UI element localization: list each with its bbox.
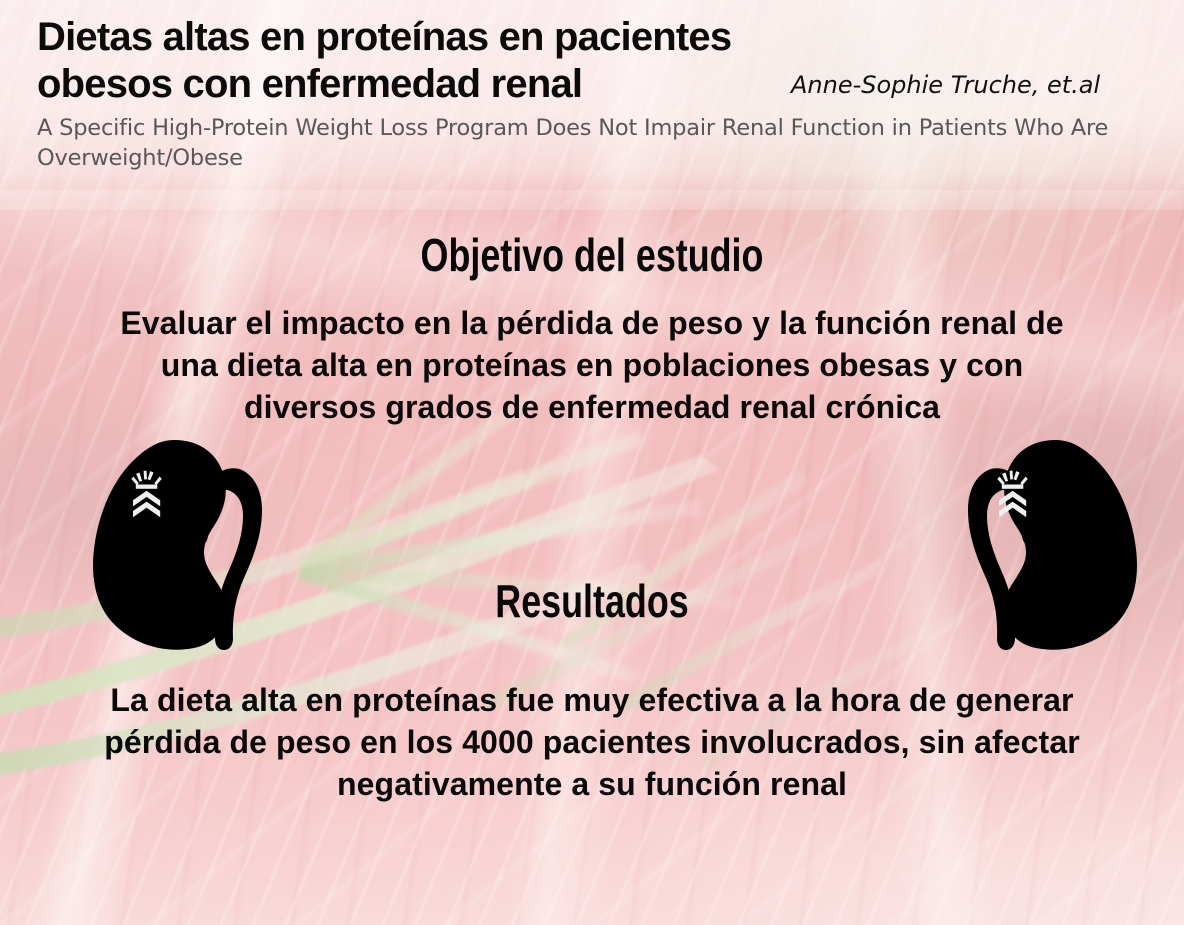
paper-subtitle: A Specific High-Protein Weight Loss Prog…: [37, 114, 1154, 174]
emblem-icon: [997, 471, 1028, 518]
section-body-resultados: La dieta alta en proteínas fue muy efect…: [62, 680, 1122, 806]
poster-header: Dietas altas en proteínas en pacientes o…: [0, 0, 1184, 173]
section-heading-resultados: Resultados: [130, 578, 1054, 624]
authors-label: Anne-Sophie Truche, et.al: [791, 71, 1100, 108]
section-body-objetivo: Evaluar el impacto en la pérdida de peso…: [92, 303, 1092, 429]
title-row: Dietas altas en proteínas en pacientes o…: [37, 14, 1154, 108]
poster-content: Dietas altas en proteínas en pacientes o…: [0, 0, 1184, 925]
emblem-icon: [131, 471, 162, 518]
page-title: Dietas altas en proteínas en pacientes o…: [37, 14, 777, 108]
infographic-poster: Dietas altas en proteínas en pacientes o…: [0, 0, 1184, 925]
section-heading-objetivo: Objetivo del estudio: [130, 232, 1054, 278]
